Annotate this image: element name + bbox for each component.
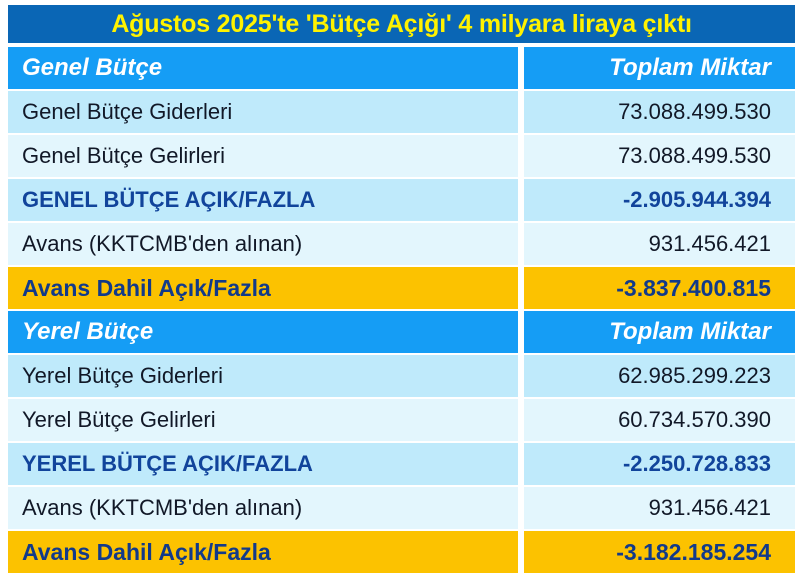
table-row: Genel Bütçe Gelirleri 73.088.499.530	[8, 135, 795, 177]
section-header-value: Toplam Miktar	[609, 320, 771, 344]
row-label: Yerel Bütçe Giderleri	[22, 365, 223, 387]
section-header-value-cell: Toplam Miktar	[524, 47, 795, 89]
row-label: Genel Bütçe Gelirleri	[22, 145, 225, 167]
row-label: Avans (KKTCMB'den alınan)	[22, 233, 302, 255]
row-label: GENEL BÜTÇE AÇIK/FAZLA	[22, 189, 315, 211]
table-row: Yerel Bütçe Gelirleri 60.734.570.390	[8, 399, 795, 441]
row-label: Genel Bütçe Giderleri	[22, 101, 232, 123]
row-value-cell: 73.088.499.530	[524, 135, 795, 177]
budget-table: Ağustos 2025'te 'Bütçe Açığı' 4 milyara …	[8, 5, 795, 575]
table-row: Yerel Bütçe Giderleri 62.985.299.223	[8, 355, 795, 397]
row-label-cell: Yerel Bütçe Gelirleri	[8, 399, 518, 441]
row-label: Yerel Bütçe Gelirleri	[22, 409, 216, 431]
table-row: Genel Bütçe Giderleri 73.088.499.530	[8, 91, 795, 133]
row-value: 62.985.299.223	[618, 365, 771, 387]
row-value-cell: 62.985.299.223	[524, 355, 795, 397]
row-value: 73.088.499.530	[618, 101, 771, 123]
row-label-cell: Avans (KKTCMB'den alınan)	[8, 223, 518, 265]
row-label: YEREL BÜTÇE AÇIK/FAZLA	[22, 453, 313, 475]
row-label-cell: GENEL BÜTÇE AÇIK/FAZLA	[8, 179, 518, 221]
row-value: -3.182.185.254	[616, 541, 771, 564]
row-value: 931.456.421	[649, 497, 771, 519]
row-label-cell: Genel Bütçe Giderleri	[8, 91, 518, 133]
section-header-value: Toplam Miktar	[609, 56, 771, 80]
row-label-cell: Avans Dahil Açık/Fazla	[8, 531, 518, 573]
row-value-cell: 931.456.421	[524, 223, 795, 265]
row-value: -3.837.400.815	[616, 277, 771, 300]
row-label-cell: Avans (KKTCMB'den alınan)	[8, 487, 518, 529]
page-title: Ağustos 2025'te 'Bütçe Açığı' 4 milyara …	[111, 12, 691, 37]
row-label: Avans (KKTCMB'den alınan)	[22, 497, 302, 519]
row-label-cell: Yerel Bütçe Giderleri	[8, 355, 518, 397]
table-row: Avans (KKTCMB'den alınan) 931.456.421	[8, 487, 795, 529]
table-row-deficit-yerel: YEREL BÜTÇE AÇIK/FAZLA -2.250.728.833	[8, 443, 795, 485]
row-value-cell: 60.734.570.390	[524, 399, 795, 441]
row-value: -2.250.728.833	[623, 453, 771, 475]
table-row-total-yerel: Avans Dahil Açık/Fazla -3.182.185.254	[8, 531, 795, 573]
section-header-label: Genel Bütçe	[22, 56, 162, 80]
row-label: Avans Dahil Açık/Fazla	[22, 277, 271, 300]
infographic-title-bar: Ağustos 2025'te 'Bütçe Açığı' 4 milyara …	[8, 5, 795, 43]
row-value-cell: -2.905.944.394	[524, 179, 795, 221]
table-row: Avans (KKTCMB'den alınan) 931.456.421	[8, 223, 795, 265]
section-header-label-cell: Yerel Bütçe	[8, 311, 518, 353]
row-value-cell: -3.182.185.254	[524, 531, 795, 573]
row-label: Avans Dahil Açık/Fazla	[22, 541, 271, 564]
table-row-deficit-genel: GENEL BÜTÇE AÇIK/FAZLA -2.905.944.394	[8, 179, 795, 221]
budget-infographic: Ağustos 2025'te 'Bütçe Açığı' 4 milyara …	[0, 0, 806, 573]
row-value-cell: 73.088.499.530	[524, 91, 795, 133]
row-value: -2.905.944.394	[623, 189, 771, 211]
row-value-cell: -2.250.728.833	[524, 443, 795, 485]
row-label-cell: YEREL BÜTÇE AÇIK/FAZLA	[8, 443, 518, 485]
section-header-label-cell: Genel Bütçe	[8, 47, 518, 89]
section-header-yerel-butce: Yerel Bütçe Toplam Miktar	[8, 311, 795, 353]
table-row-total-genel: Avans Dahil Açık/Fazla -3.837.400.815	[8, 267, 795, 309]
row-value-cell: 931.456.421	[524, 487, 795, 529]
row-value: 931.456.421	[649, 233, 771, 255]
row-value: 73.088.499.530	[618, 145, 771, 167]
row-label-cell: Avans Dahil Açık/Fazla	[8, 267, 518, 309]
section-header-label: Yerel Bütçe	[22, 320, 153, 344]
row-value-cell: -3.837.400.815	[524, 267, 795, 309]
row-label-cell: Genel Bütçe Gelirleri	[8, 135, 518, 177]
section-header-value-cell: Toplam Miktar	[524, 311, 795, 353]
row-value: 60.734.570.390	[618, 409, 771, 431]
section-header-genel-butce: Genel Bütçe Toplam Miktar	[8, 47, 795, 89]
